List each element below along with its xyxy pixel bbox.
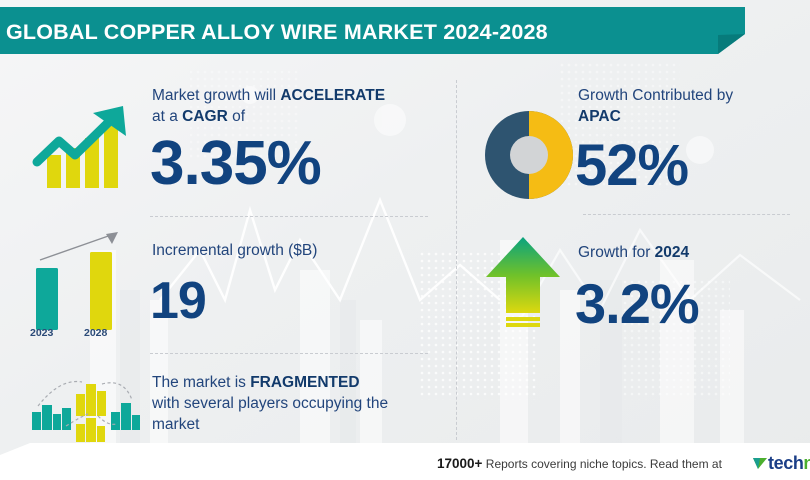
logo-text-navio: navio [803,453,810,473]
cagr-text-1: Market growth will [152,87,280,104]
apac-value: 52% [575,132,688,199]
cagr-text-2: at a [152,108,182,125]
bar-label-2023: 2023 [30,327,53,339]
footer-message: Reports covering niche topics. Read them… [486,457,722,471]
fragmented-caption: The market is FRAGMENTED with several pl… [152,372,442,435]
growth2024-value: 3.2% [575,271,699,336]
fragmented-text-3: market [152,416,199,433]
apac-label: Growth Contributed by [578,87,733,104]
footer-report-count: 17000+ [437,456,482,471]
divider-incremental-fragmented [150,353,428,354]
growth2024-caption: Growth for 2024 [578,242,803,263]
bar-label-2028: 2028 [84,327,107,339]
city-buildings-network-icon [28,372,144,444]
footer-caption: 17000+ Reports covering niche topics. Re… [437,456,722,471]
apac-region: APAC [578,108,621,125]
divider-apac-growth2024 [583,214,790,215]
cagr-accelerate: ACCELERATE [280,87,385,104]
divider-cagr-incremental [150,216,428,217]
cagr-text-3: of [228,108,245,125]
technavio-triangle-icon [752,455,768,471]
vertical-divider [456,80,457,440]
cagr-value: 3.35% [150,128,321,199]
page-title: GLOBAL COPPER ALLOY WIRE MARKET 2024-202… [6,20,548,45]
technavio-logo[interactable]: technavio [752,453,810,474]
fragmented-text-1: The market is [152,374,250,391]
fragmented-text-2: with several players occupying the [152,395,388,412]
cagr-caption: Market growth will ACCELERATE at a CAGR … [152,85,442,127]
cagr-label: CAGR [182,108,228,125]
logo-text-tech: tech [768,453,803,473]
growth-arrow-bar-chart-icon [27,100,137,195]
fragmented-keyword: FRAGMENTED [250,374,359,391]
apac-caption: Growth Contributed by APAC [578,85,803,127]
growth2024-year: 2024 [655,244,689,261]
incremental-label: Incremental growth ($B) [152,240,442,261]
growth2024-label: Growth for [578,244,655,261]
up-arrow-gradient-icon [482,235,564,335]
banner-fold-corner [718,34,745,54]
incremental-value: 19 [150,271,206,331]
donut-chart-icon [480,106,578,204]
